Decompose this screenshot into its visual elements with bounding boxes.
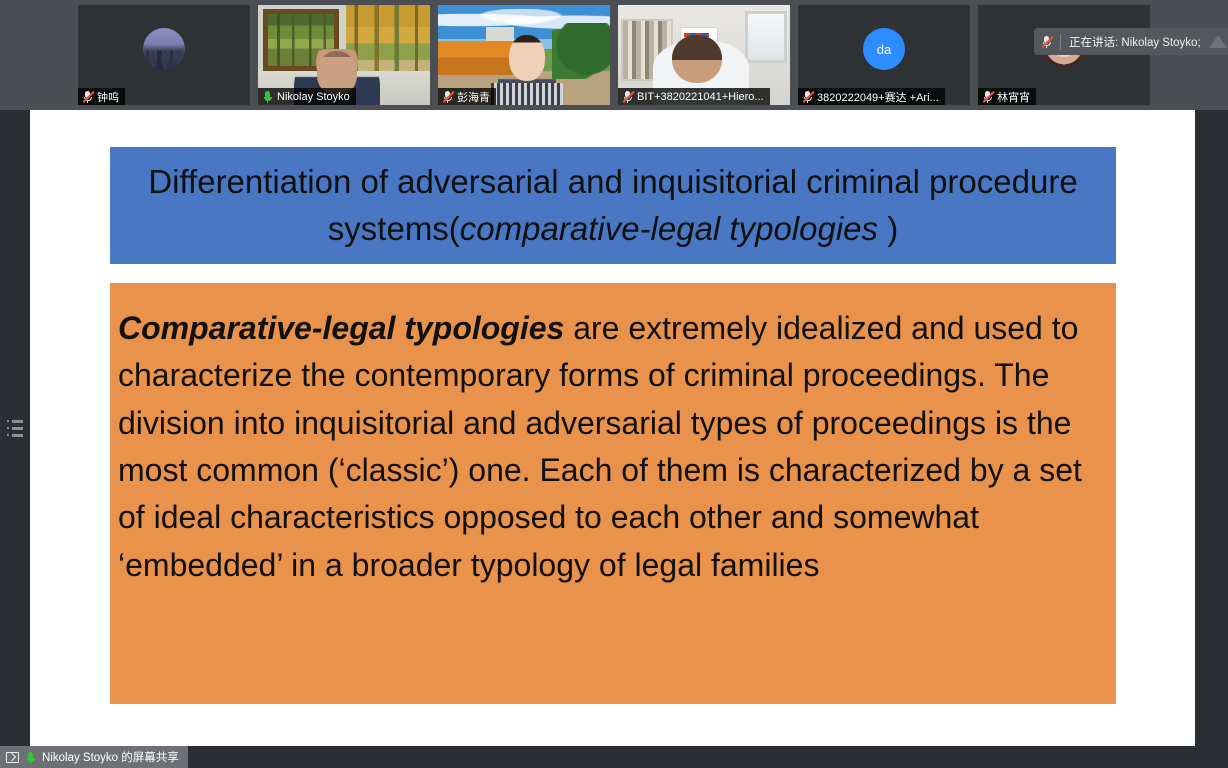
- participant-name-badge: BIT+3820221041+Hiero...: [618, 88, 770, 105]
- slide-body-text: are extremely idealized and used to char…: [118, 310, 1082, 583]
- status-bar: Nikolay Stoyko 的屏幕共享: [0, 746, 1228, 768]
- zoom-meeting-window: 钟呜 Nikolay Stoyko: [0, 0, 1228, 768]
- mic-muted-icon: [622, 90, 633, 103]
- screen-share-indicator: Nikolay Stoyko 的屏幕共享: [0, 746, 188, 768]
- slide-title-text: Differentiation of adversarial and inqui…: [126, 159, 1100, 253]
- participant-tile-active-speaker[interactable]: Nikolay Stoyko: [258, 5, 430, 105]
- participant-tile[interactable]: BIT+3820221041+Hiero...: [618, 5, 790, 105]
- divider: [1060, 34, 1061, 50]
- mic-muted-icon: [442, 90, 453, 103]
- mic-on-icon: [25, 751, 36, 764]
- participant-tile[interactable]: 林宵宵: [978, 5, 1150, 105]
- participant-name-badge: Nikolay Stoyko: [258, 88, 356, 105]
- participant-tile[interactable]: da 3820222049+赛达 +Ari...: [798, 5, 970, 105]
- avatar-initials: da: [877, 42, 891, 57]
- shared-screen-canvas: Differentiation of adversarial and inqui…: [30, 110, 1195, 746]
- participant-name-badge: 林宵宵: [978, 88, 1036, 105]
- participant-name: Nikolay Stoyko: [277, 91, 350, 103]
- mic-muted-icon: [1041, 35, 1052, 48]
- slide-title-emphasis: comparative-legal typologies: [460, 210, 878, 247]
- screen-share-label: Nikolay Stoyko 的屏幕共享: [42, 749, 179, 765]
- slide-title-block: Differentiation of adversarial and inqui…: [110, 147, 1116, 264]
- participant-name: 彭海青: [457, 89, 490, 105]
- mic-muted-icon: [82, 90, 93, 103]
- avatar: da: [863, 28, 905, 70]
- slide-body-block: Comparative-legal typologies are extreme…: [110, 283, 1116, 704]
- list-view-icon: [7, 420, 23, 437]
- screen-share-icon: [6, 752, 19, 763]
- sound-wave-icon: [1209, 35, 1228, 48]
- participant-name-badge: 3820222049+赛达 +Ari...: [798, 88, 945, 105]
- participant-name: 3820222049+赛达 +Ari...: [817, 89, 939, 105]
- active-speaker-label: 正在讲话: Nikolay Stoyko;: [1069, 34, 1201, 50]
- participant-name: 林宵宵: [997, 89, 1030, 105]
- participant-tile[interactable]: 彭海青: [438, 5, 610, 105]
- active-speaker-tooltip: 正在讲话: Nikolay Stoyko;: [1034, 28, 1228, 55]
- participant-name: 钟呜: [97, 89, 119, 105]
- participant-name-badge: 彭海青: [438, 88, 496, 105]
- avatar: [143, 28, 185, 70]
- participant-filmstrip: 钟呜 Nikolay Stoyko: [0, 0, 1228, 110]
- participant-tile[interactable]: 钟呜: [78, 5, 250, 105]
- slide-body-lead: Comparative-legal typologies: [118, 310, 564, 346]
- mic-muted-icon: [982, 90, 993, 103]
- participant-name-badge: 钟呜: [78, 88, 125, 105]
- view-panel-handle[interactable]: [0, 110, 30, 746]
- mic-on-icon: [262, 90, 273, 103]
- participant-name: BIT+3820221041+Hiero...: [637, 91, 764, 103]
- mic-muted-icon: [802, 90, 813, 103]
